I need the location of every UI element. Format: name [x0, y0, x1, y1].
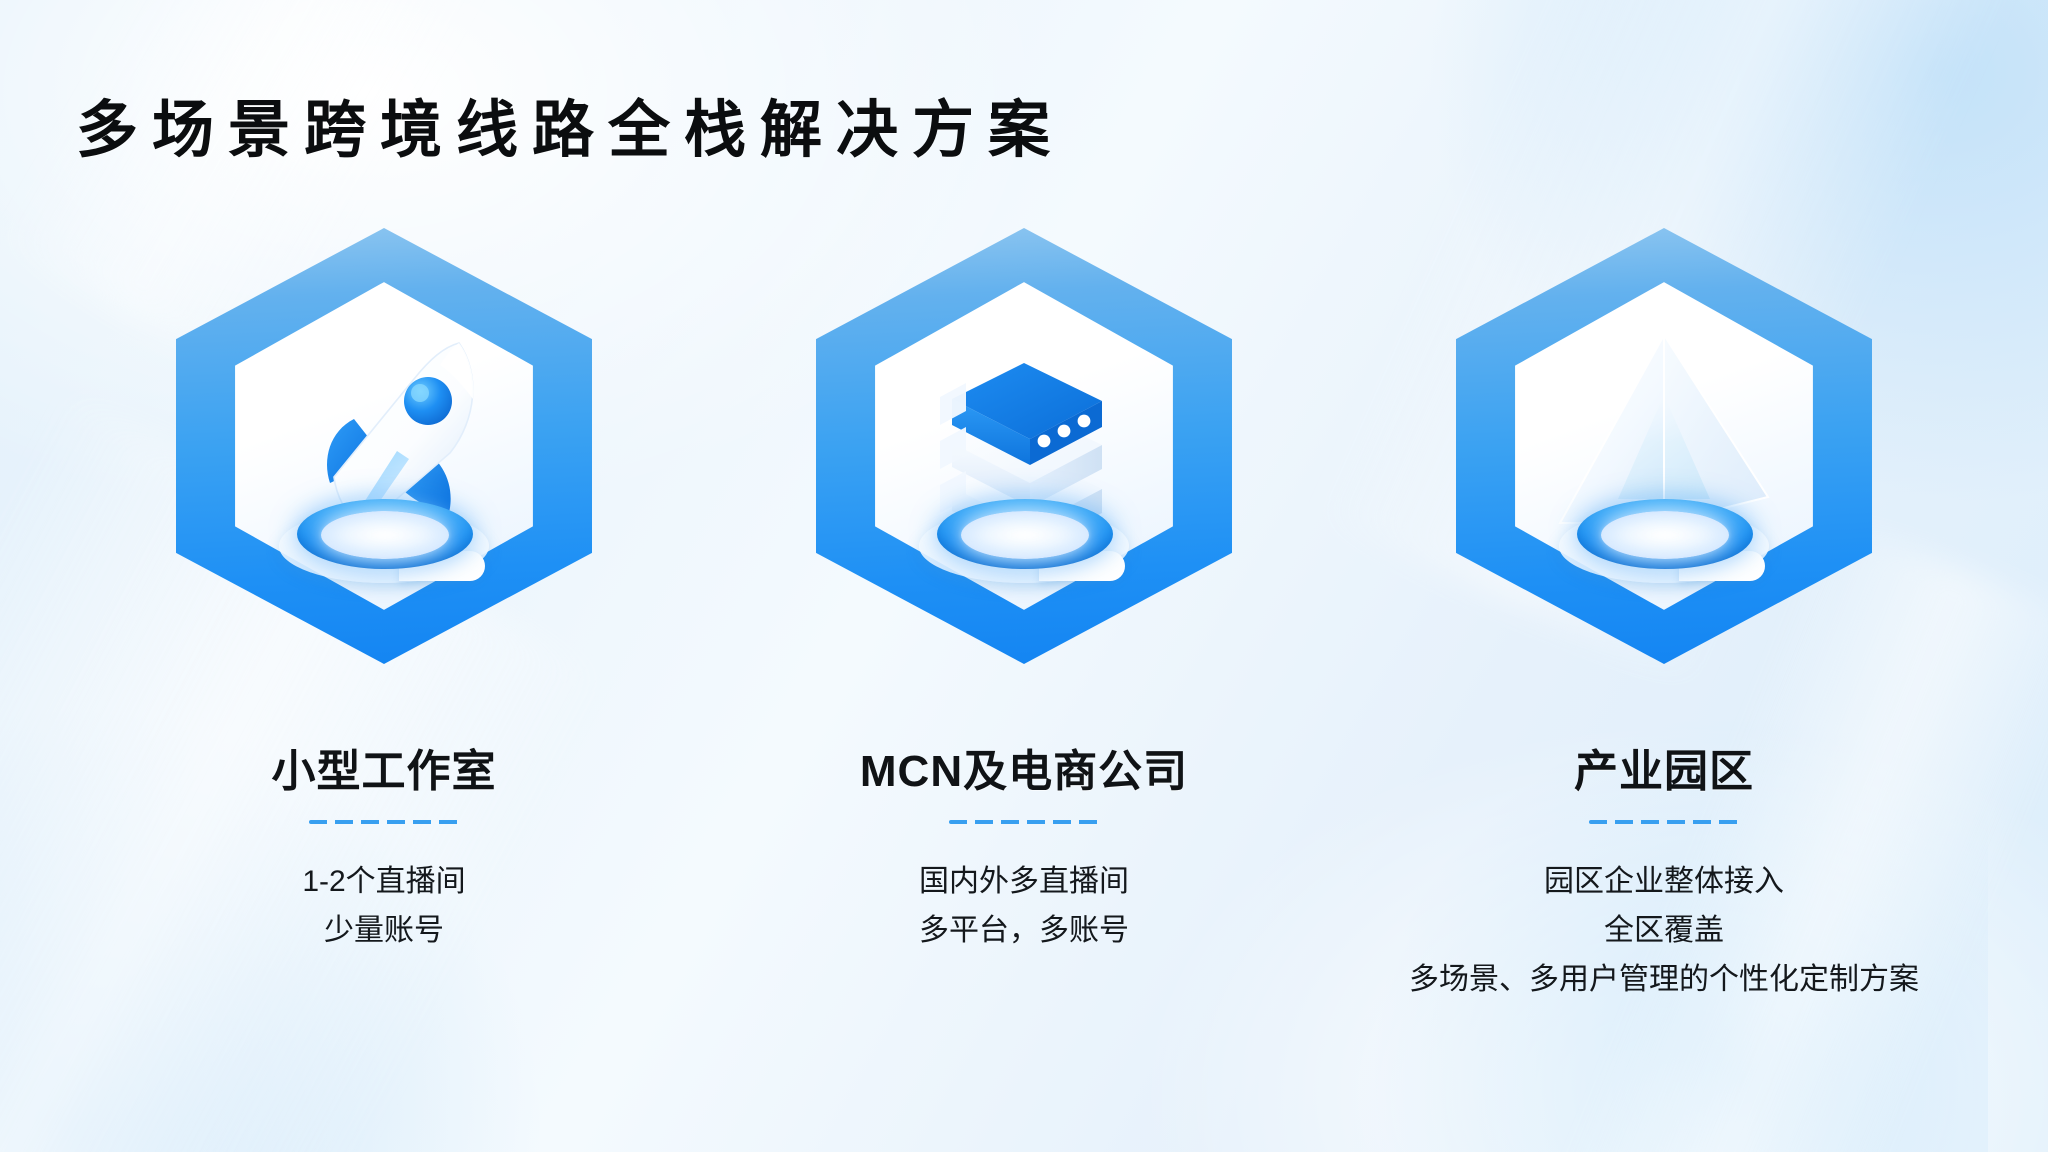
card-divider [309, 820, 459, 824]
card-description-line: 1-2个直播间 [302, 858, 465, 907]
pedestal-glow [321, 515, 449, 555]
solution-card-list: 小型工作室 1-2个直播间 少量账号 [0, 228, 2048, 1004]
hexagon-icon-frame [176, 228, 592, 664]
icon-pedestal [1555, 487, 1773, 583]
card-description: 1-2个直播间 少量账号 [302, 858, 465, 955]
card-divider [1589, 820, 1739, 824]
pedestal-glow [1601, 515, 1729, 555]
server-status-dot [1038, 435, 1051, 448]
pedestal-glow [961, 515, 1089, 555]
server-stack-icon [874, 291, 1174, 601]
solution-card-mcn-ecommerce[interactable]: MCN及电商公司 国内外多直播间 多平台，多账号 [704, 228, 1344, 956]
card-description: 园区企业整体接入 全区覆盖 多场景、多用户管理的个性化定制方案 [1409, 858, 1919, 1004]
card-description-line: 全区覆盖 [1409, 907, 1919, 956]
solution-card-small-studio[interactable]: 小型工作室 1-2个直播间 少量账号 [64, 228, 704, 956]
card-title: 小型工作室 [272, 748, 497, 796]
hexagon-icon-frame [816, 228, 1232, 664]
rocket-icon [234, 291, 534, 601]
card-description: 国内外多直播间 多平台，多账号 [919, 858, 1129, 955]
pyramid-icon [1514, 291, 1814, 601]
page-title: 多场景跨境线路全栈解决方案 [76, 100, 1064, 162]
card-description-line: 多平台，多账号 [919, 907, 1129, 956]
card-title: 产业园区 [1574, 748, 1754, 796]
card-divider [949, 820, 1099, 824]
hexagon-icon-frame [1456, 228, 1872, 664]
icon-pedestal [915, 487, 1133, 583]
card-description-line: 多场景、多用户管理的个性化定制方案 [1409, 956, 1919, 1005]
rocket-window [404, 377, 452, 425]
card-title: MCN及电商公司 [860, 748, 1188, 796]
card-description-line: 园区企业整体接入 [1409, 858, 1919, 907]
icon-pedestal [275, 487, 493, 583]
card-description-line: 国内外多直播间 [919, 858, 1129, 907]
slide-canvas: 多场景跨境线路全栈解决方案 [0, 0, 2048, 1152]
server-status-dot [1058, 425, 1071, 438]
server-status-dot [1078, 415, 1091, 428]
solution-card-industrial-park[interactable]: 产业园区 园区企业整体接入 全区覆盖 多场景、多用户管理的个性化定制方案 [1344, 228, 1984, 1004]
rocket-window-glint [411, 384, 429, 402]
card-description-line: 少量账号 [302, 907, 465, 956]
